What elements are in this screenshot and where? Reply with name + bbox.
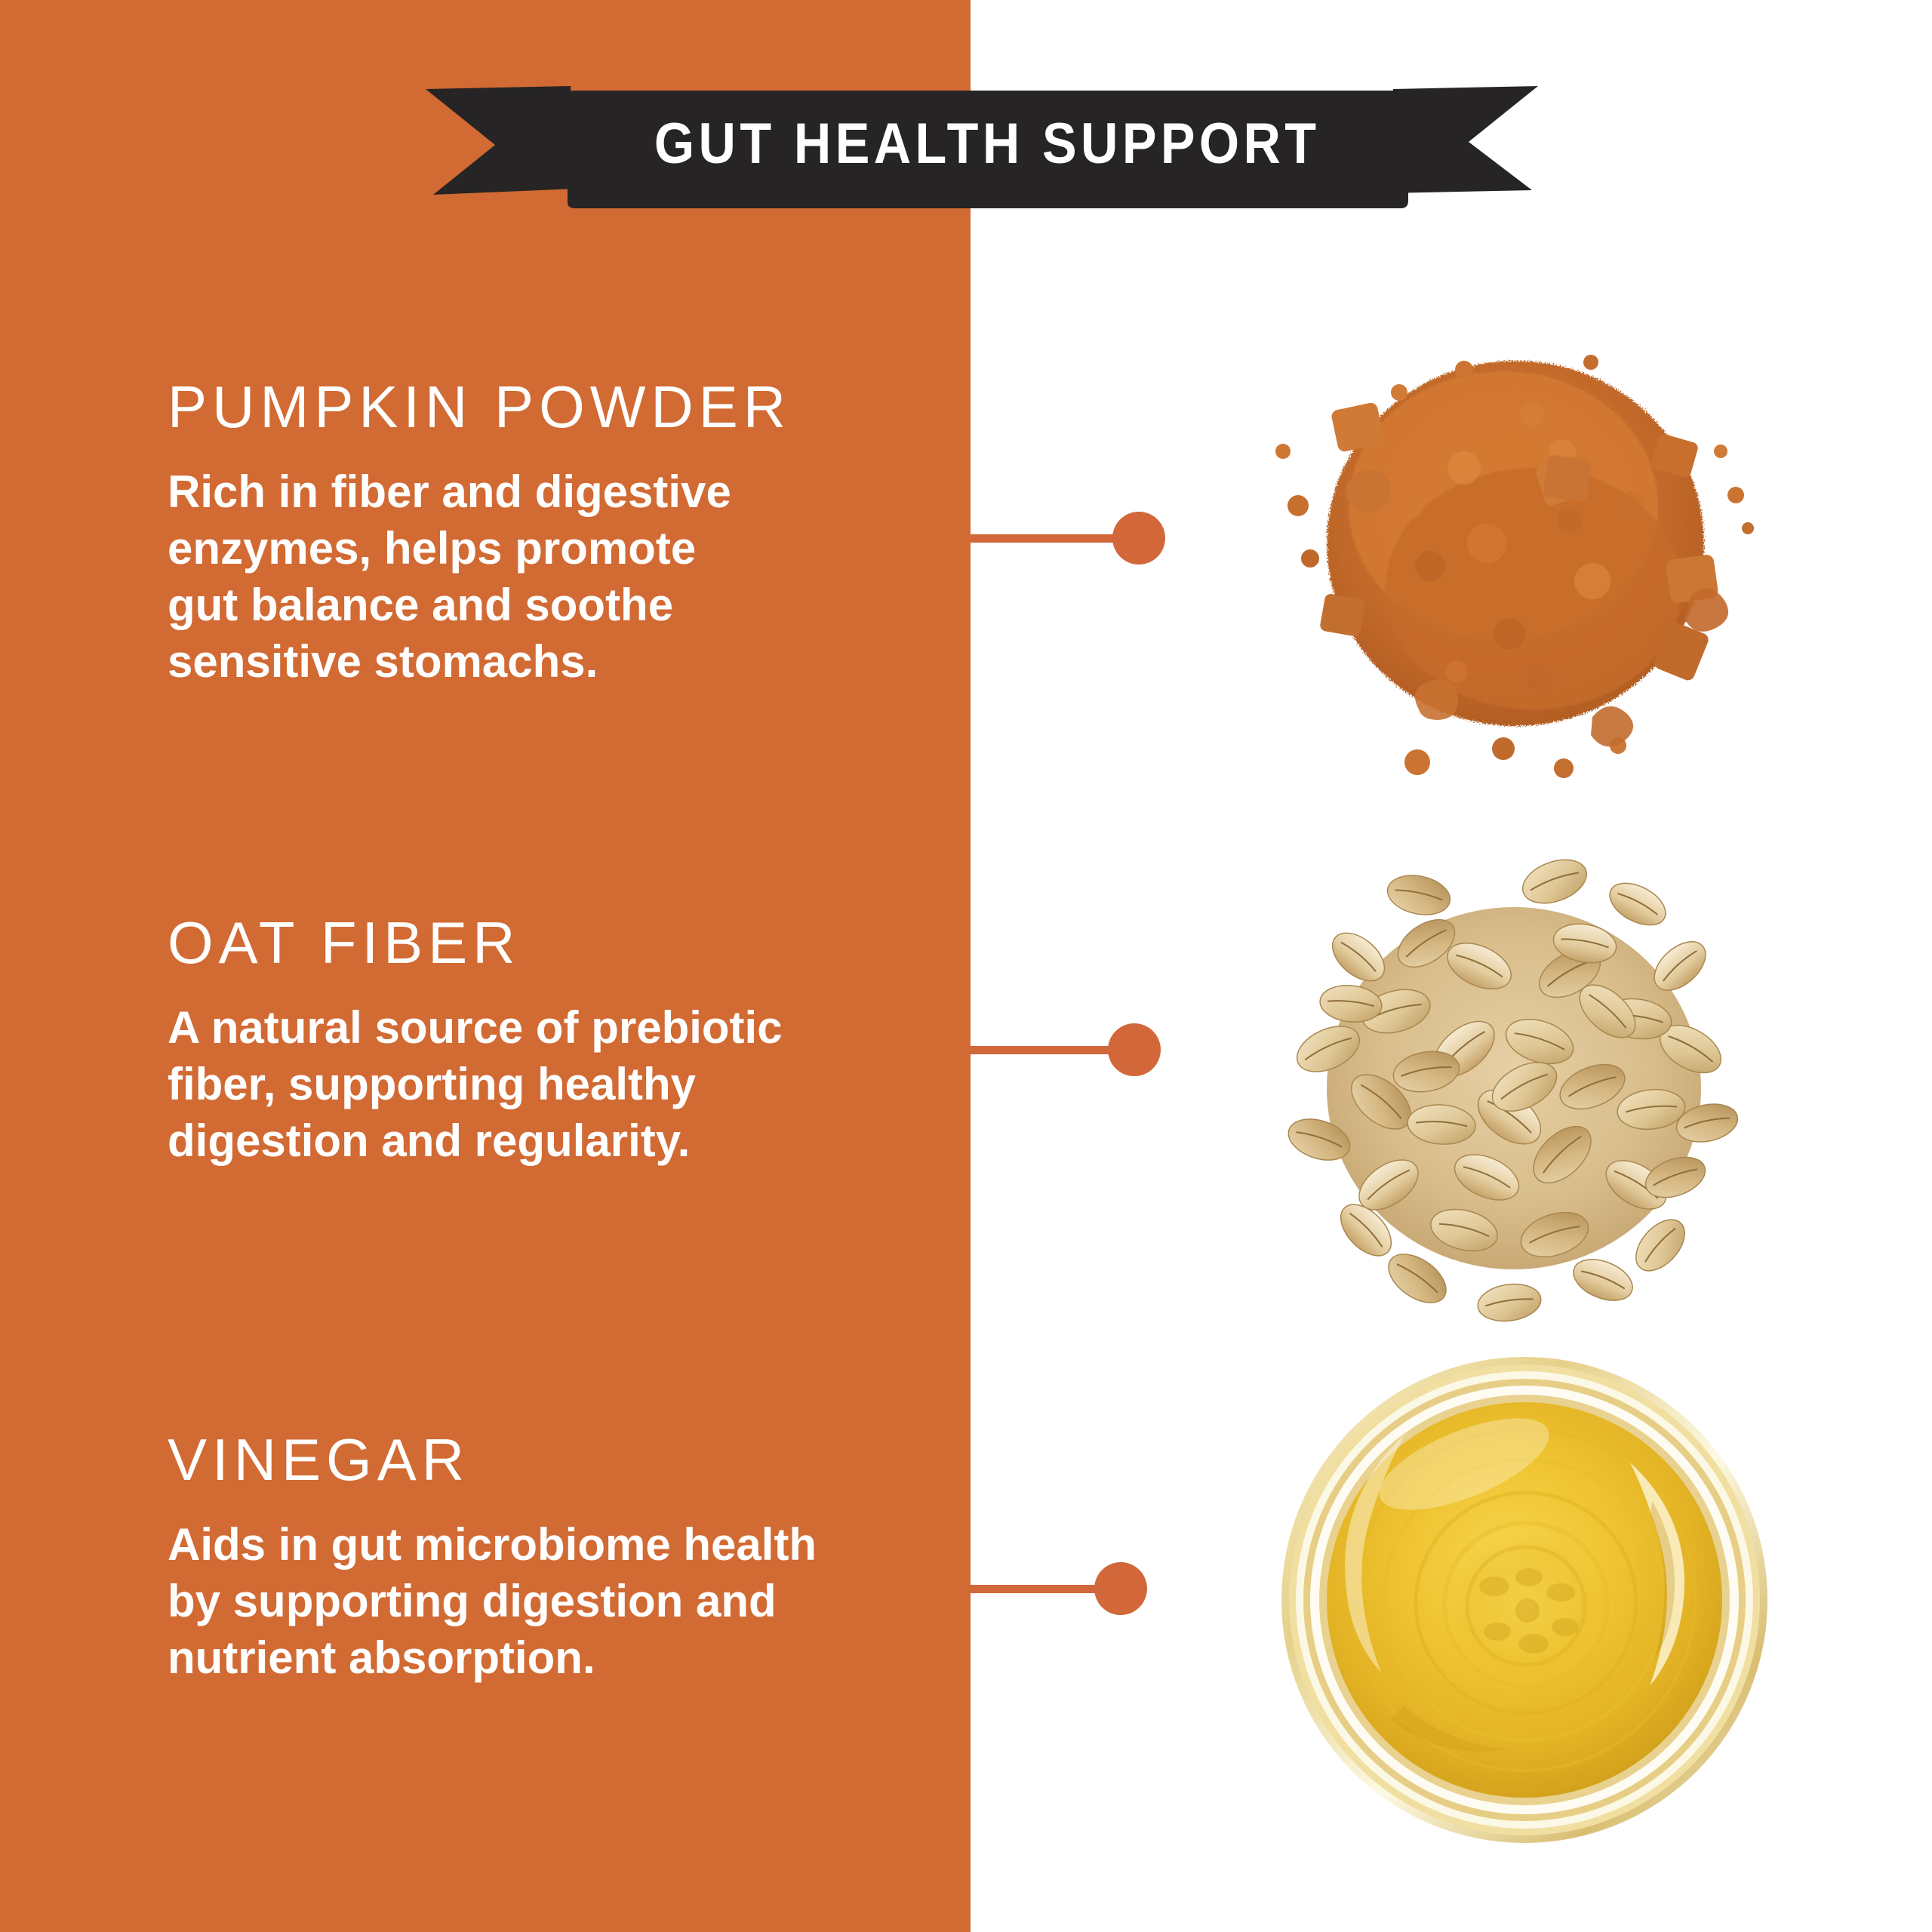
banner-title: GUT HEALTH SUPPORT <box>476 75 1488 211</box>
desc-line: gut balance and soothe <box>168 577 907 633</box>
desc-line: A natural source of prebiotic <box>168 999 907 1056</box>
infographic-canvas: GUT HEALTH SUPPORT PUMPKIN POWDER Rich i… <box>0 0 1932 1932</box>
vinegar-text-block: VINEGAR Aids in gut microbiome health by… <box>168 1430 922 1686</box>
banner-ribbon: GUT HEALTH SUPPORT <box>420 75 1544 211</box>
connector-pumpkin-powder <box>971 512 1167 565</box>
connector-line <box>971 1046 1115 1054</box>
connector-oat-fiber <box>971 1023 1167 1076</box>
connector-dot <box>1094 1562 1147 1615</box>
oat-fiber-text-block: OAT FIBER A natural source of prebiotic … <box>168 913 922 1169</box>
ingredient-description-oat-fiber: A natural source of prebiotic fiber, sup… <box>168 999 907 1169</box>
ingredient-title-pumpkin-powder: PUMPKIN POWDER <box>168 377 922 436</box>
desc-line: Aids in gut microbiome health <box>168 1516 907 1573</box>
oat-fiber-photo <box>1238 823 1789 1351</box>
desc-line: enzymes, helps promote <box>168 520 907 577</box>
pumpkin-powder-illustration <box>1238 279 1789 808</box>
ingredient-description-vinegar: Aids in gut microbiome health by support… <box>168 1516 907 1686</box>
connector-dot <box>1108 1023 1161 1076</box>
pumpkin-powder-photo <box>1238 279 1789 808</box>
connector-line <box>971 534 1121 543</box>
desc-line: digestion and regularity. <box>168 1112 907 1169</box>
ingredient-title-oat-fiber: OAT FIBER <box>168 913 922 972</box>
desc-line: nutrient absorption. <box>168 1629 907 1686</box>
desc-line: Rich in fiber and digestive <box>168 463 907 520</box>
ingredient-title-vinegar: VINEGAR <box>168 1430 922 1489</box>
connector-dot <box>1112 512 1165 565</box>
desc-line: by supporting digestion and <box>168 1573 907 1629</box>
connector-vinegar <box>971 1562 1159 1615</box>
oat-flakes-illustration <box>1238 823 1789 1351</box>
connector-line <box>971 1585 1100 1593</box>
vinegar-photo <box>1275 1351 1774 1849</box>
ingredient-description-pumpkin-powder: Rich in fiber and digestive enzymes, hel… <box>168 463 907 690</box>
desc-line: sensitive stomachs. <box>168 633 907 690</box>
desc-line: fiber, supporting healthy <box>168 1056 907 1112</box>
pumpkin-powder-text-block: PUMPKIN POWDER Rich in fiber and digesti… <box>168 377 922 690</box>
vinegar-bowl-illustration <box>1275 1351 1774 1849</box>
